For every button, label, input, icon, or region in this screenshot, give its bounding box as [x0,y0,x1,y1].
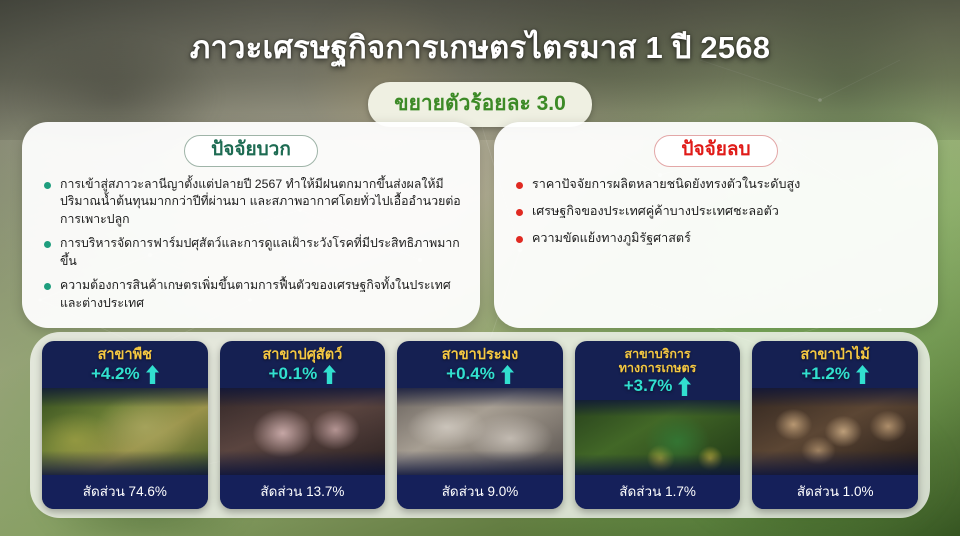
card-footer: สัดส่วน 1.0% [752,475,918,509]
arrow-up-icon [323,365,336,384]
factor-text: การบริหารจัดการฟาร์มปศุสัตว์และการดูแลเฝ… [60,235,462,270]
arrow-up-icon [856,365,869,384]
sector-growth: +0.1% [269,364,318,384]
sector-title: สาขาป่าไม้ [756,347,914,363]
growth-row: +0.1% [224,364,382,384]
bullet-icon [516,182,523,189]
sector-card-crop[interactable]: สาขาพืช +4.2% สัดส่วน 74.6% [42,341,208,509]
card-footer: สัดส่วน 13.7% [220,475,386,509]
list-item: เศรษฐกิจของประเทศคู่ค้าบางประเทศชะลอตัว [512,203,920,221]
bullet-icon [44,182,51,189]
growth-row: +0.4% [401,364,559,384]
negative-factors-list: ราคาปัจจัยการผลิตหลายชนิดยังทรงตัวในระดั… [512,176,920,248]
bullet-icon [516,209,523,216]
negative-factors-panel: ปัจจัยลบ ราคาปัจจัยการผลิตหลายชนิดยังทรง… [494,122,938,328]
positive-factors-panel: ปัจจัยบวก การเข้าสู่สภาวะลานีญาตั้งแต่ปล… [22,122,480,328]
sector-cards: สาขาพืช +4.2% สัดส่วน 74.6% สาขาปศุสัตว์… [42,341,918,509]
sector-growth: +3.7% [624,376,673,396]
bullet-icon [44,283,51,290]
positive-factors-list: การเข้าสู่สภาวะลานีญาตั้งแต่ปลายปี 2567 … [40,176,462,312]
card-header: สาขาปศุสัตว์ +0.1% [220,341,386,388]
card-footer: สัดส่วน 9.0% [397,475,563,509]
factor-text: ราคาปัจจัยการผลิตหลายชนิดยังทรงตัวในระดั… [532,176,800,194]
sector-title-line2: ทางการเกษตร [579,361,737,375]
factor-panels: ปัจจัยบวก การเข้าสู่สภาวะลานีญาตั้งแต่ปล… [22,122,938,328]
card-footer: สัดส่วน 1.7% [575,475,741,509]
sector-card-forestry[interactable]: สาขาป่าไม้ +1.2% สัดส่วน 1.0% [752,341,918,509]
sector-growth: +0.4% [446,364,495,384]
arrow-up-icon [678,377,691,396]
list-item: ความขัดแย้งทางภูมิรัฐศาสตร์ [512,230,920,248]
sector-title: สาขาพืช [46,347,204,363]
page-header: ภาวะเศรษฐกิจการเกษตรไตรมาส 1 ปี 2568 ขยา… [0,0,960,120]
growth-row: +3.7% [579,376,737,396]
list-item: ราคาปัจจัยการผลิตหลายชนิดยังทรงตัวในระดั… [512,176,920,194]
factor-text: ความต้องการสินค้าเกษตรเพิ่มขึ้นตามการฟื้… [60,277,462,312]
sector-title: สาขาประมง [401,347,559,363]
sector-card-fishery[interactable]: สาขาประมง +0.4% สัดส่วน 9.0% [397,341,563,509]
bullet-icon [516,236,523,243]
factor-text: การเข้าสู่สภาวะลานีญาตั้งแต่ปลายปี 2567 … [60,176,462,228]
sector-growth: +4.2% [91,364,140,384]
growth-row: +4.2% [46,364,204,384]
bullet-icon [44,241,51,248]
sector-share: สัดส่วน 9.0% [442,484,519,499]
negative-factors-title: ปัจจัยลบ [654,135,777,167]
card-header: สาขาบริการ ทางการเกษตร +3.7% [575,341,741,400]
sector-photo-livestock [220,388,386,475]
arrow-up-icon [146,365,159,384]
factor-text: เศรษฐกิจของประเทศคู่ค้าบางประเทศชะลอตัว [532,203,779,221]
sector-photo-crop [42,388,208,475]
growth-badge-label: ขยายตัวร้อยละ 3.0 [394,92,566,115]
arrow-up-icon [501,365,514,384]
positive-factors-title: ปัจจัยบวก [184,135,318,167]
sector-photo-fishery [397,388,563,475]
list-item: การเข้าสู่สภาวะลานีญาตั้งแต่ปลายปี 2567 … [40,176,462,228]
sector-growth: +1.2% [801,364,850,384]
sector-card-service[interactable]: สาขาบริการ ทางการเกษตร +3.7% สัดส่วน 1.7… [575,341,741,509]
sector-title: สาขาปศุสัตว์ [224,347,382,363]
card-header: สาขาพืช +4.2% [42,341,208,388]
growth-badge: ขยายตัวร้อยละ 3.0 [368,82,592,127]
factor-text: ความขัดแย้งทางภูมิรัฐศาสตร์ [532,230,691,248]
sector-title: สาขาบริการ [579,347,737,361]
growth-row: +1.2% [756,364,914,384]
sector-card-livestock[interactable]: สาขาปศุสัตว์ +0.1% สัดส่วน 13.7% [220,341,386,509]
card-header: สาขาป่าไม้ +1.2% [752,341,918,388]
sector-photo-service [575,400,741,475]
sector-photo-forestry [752,388,918,475]
sector-share: สัดส่วน 74.6% [83,484,167,499]
card-footer: สัดส่วน 74.6% [42,475,208,509]
infographic-screen: ภาวะเศรษฐกิจการเกษตรไตรมาส 1 ปี 2568 ขยา… [0,0,960,536]
page-title: ภาวะเศรษฐกิจการเกษตรไตรมาส 1 ปี 2568 [190,22,770,72]
list-item: ความต้องการสินค้าเกษตรเพิ่มขึ้นตามการฟื้… [40,277,462,312]
sector-share: สัดส่วน 13.7% [260,484,344,499]
list-item: การบริหารจัดการฟาร์มปศุสัตว์และการดูแลเฝ… [40,235,462,270]
sector-share: สัดส่วน 1.0% [797,484,874,499]
card-header: สาขาประมง +0.4% [397,341,563,388]
sector-share: สัดส่วน 1.7% [619,484,696,499]
